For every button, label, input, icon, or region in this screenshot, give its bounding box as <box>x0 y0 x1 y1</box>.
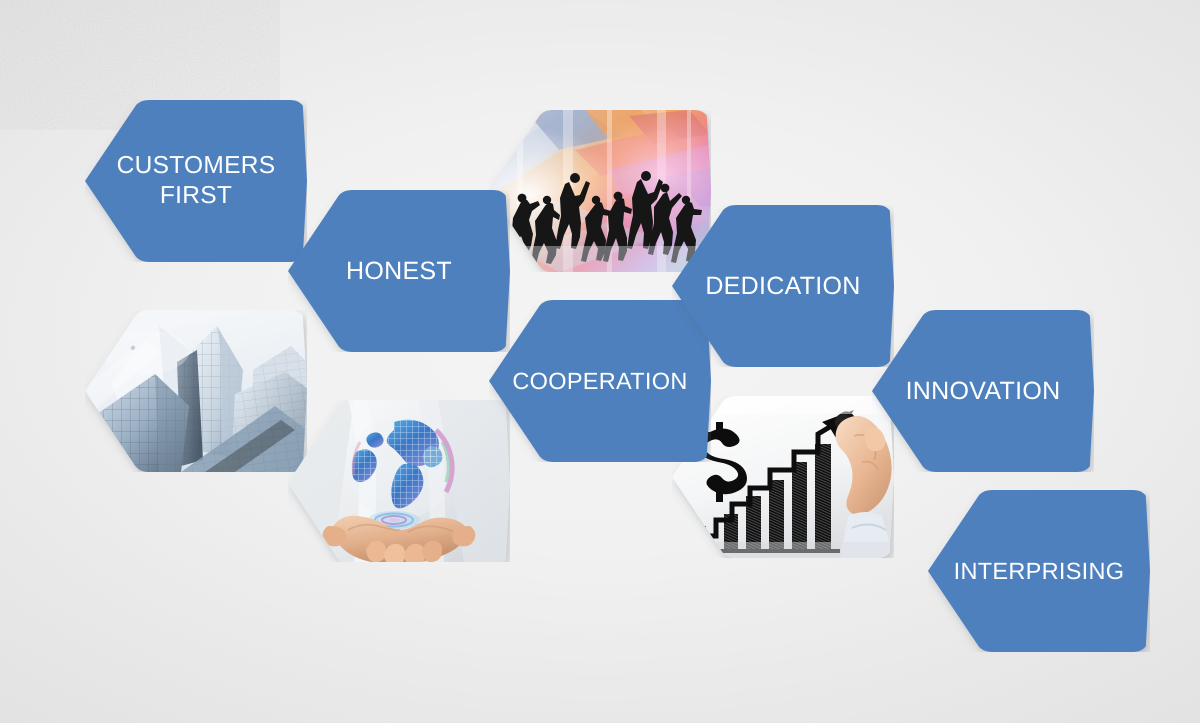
hexagon-label: HONEST <box>288 190 510 352</box>
hexagon-label: DEDICATION <box>672 205 894 367</box>
hexagon-tile-innovation[interactable]: INNOVATION <box>872 310 1094 472</box>
hexagon-label <box>288 400 510 562</box>
hexagon-tile-interprising[interactable]: INTERPRISING <box>928 490 1150 652</box>
hexagon-tile-global-reach[interactable] <box>288 400 510 562</box>
hexagon-label: INNOVATION <box>872 310 1094 472</box>
hexagon-tile-dedication[interactable]: DEDICATION <box>672 205 894 367</box>
hexagon-label <box>85 310 307 472</box>
hexagon-tile-honest[interactable]: HONEST <box>288 190 510 352</box>
hexagon-tile-customers-first[interactable]: CUSTOMERS FIRST <box>85 100 307 262</box>
infographic-canvas: CUSTOMERS FIRST HONEST COOPERATION DEDIC… <box>0 0 1200 723</box>
hexagon-tile-corporate-buildings[interactable] <box>85 310 307 472</box>
hexagon-label: INTERPRISING <box>928 490 1150 652</box>
hexagon-label: CUSTOMERS FIRST <box>85 100 307 262</box>
